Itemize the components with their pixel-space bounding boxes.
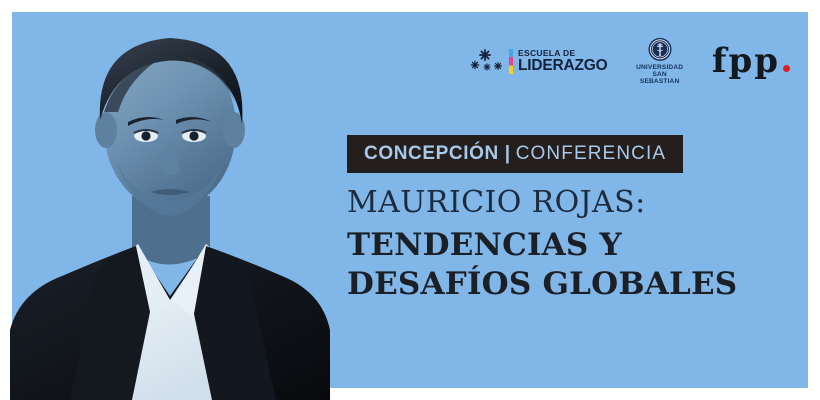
partner-logos: ESCUELA DE LIDERAZGO UNIVERSIDAD SAN SEB… [470, 34, 790, 88]
event-promo-banner: ESCUELA DE LIDERAZGO UNIVERSIDAD SAN SEB… [0, 0, 820, 400]
logo-escuela-de-liderazgo: ESCUELA DE LIDERAZGO [470, 44, 607, 78]
logo-uss-line2: SAN SEBASTIAN [640, 71, 679, 85]
university-seal-icon [645, 37, 675, 62]
logo-universidad-san-sebastian: UNIVERSIDAD SAN SEBASTIAN [633, 37, 685, 85]
event-kind: CONFERENCIA [516, 143, 666, 165]
logo-uss-wordmark: UNIVERSIDAD SAN SEBASTIAN [633, 64, 685, 85]
topic-line-1: TENDENCIAS Y [347, 226, 767, 266]
tag-separator: | [505, 143, 511, 165]
logo-escuela-line2: LIDERAZGO [518, 58, 607, 74]
asterisk-cluster-icon [470, 48, 504, 74]
logo-fpp-dot-icon [783, 65, 790, 72]
speaker-portrait-image [0, 0, 340, 400]
color-bar-accent [509, 49, 513, 74]
speaker-portrait [0, 0, 340, 400]
logo-fpp-wordmark: fpp [712, 44, 780, 78]
topic-line-2: DESAFÍOS GLOBALES [347, 265, 767, 305]
event-tag-banner: CONCEPCIÓN | CONFERENCIA [347, 135, 683, 173]
speaker-name: MAURICIO ROJAS: [347, 186, 767, 220]
logo-escuela-wordmark: ESCUELA DE LIDERAZGO [518, 49, 607, 74]
logo-uss-line1: UNIVERSIDAD [636, 64, 683, 71]
headline-block: MAURICIO ROJAS: TENDENCIAS Y DESAFÍOS GL… [347, 186, 767, 305]
logo-fpp: fpp [712, 44, 790, 78]
event-city: CONCEPCIÓN [364, 143, 499, 165]
logo-escuela-line1: ESCUELA DE [518, 49, 607, 58]
